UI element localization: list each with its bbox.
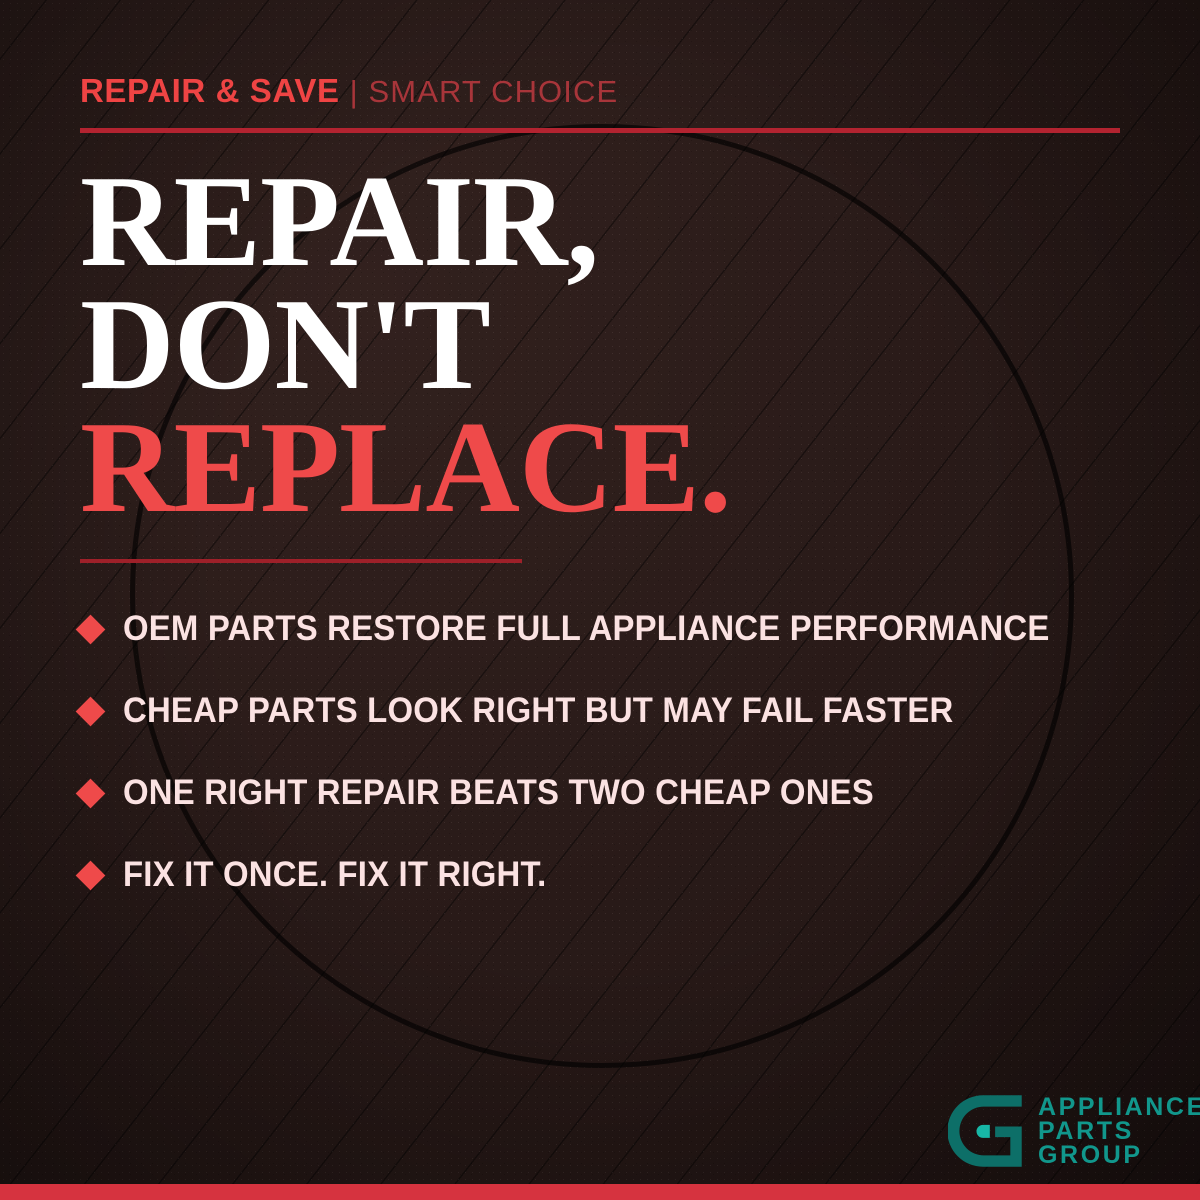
list-item: OEM PARTS RESTORE FULL APPLIANCE PERFORM… [80, 588, 1160, 670]
diamond-bullet-icon [76, 696, 106, 726]
poster-content: REPAIR & SAVE| SMART CHOICE REPAIR, DON'… [0, 0, 1200, 1200]
brand-line-parts: PARTS [1038, 1119, 1200, 1143]
bottom-accent-bar [0, 1184, 1200, 1200]
brand-line-appliance: APPLIANCE [1038, 1095, 1200, 1119]
brand-line-group: GROUP [1038, 1143, 1200, 1167]
eyebrow: REPAIR & SAVE| SMART CHOICE [80, 74, 618, 107]
list-item-label: ONE RIGHT REPAIR BEATS TWO CHEAP ONES [123, 773, 874, 813]
headline-line-2: DON'T [80, 283, 1080, 406]
benefits-list: OEM PARTS RESTORE FULL APPLIANCE PERFORM… [80, 588, 1160, 916]
brand-logo: APPLIANCE PARTS GROUP [948, 1093, 1200, 1169]
top-divider-rule [80, 128, 1120, 133]
eyebrow-strong-text: REPAIR & SAVE [80, 72, 340, 109]
headline-divider-rule [80, 559, 522, 563]
page-title: REPAIR, DON'T REPLACE. [80, 160, 1080, 529]
list-item: CHEAP PARTS LOOK RIGHT BUT MAY FAIL FAST… [80, 670, 1160, 752]
diamond-bullet-icon [76, 860, 106, 890]
headline-line-1: REPAIR, [80, 160, 1080, 283]
list-item: FIX IT ONCE. FIX IT RIGHT. [80, 834, 1160, 916]
g-monogram-icon [948, 1093, 1024, 1169]
poster-canvas: REPAIR & SAVE| SMART CHOICE REPAIR, DON'… [0, 0, 1200, 1200]
diamond-bullet-icon [76, 614, 106, 644]
diamond-bullet-icon [76, 778, 106, 808]
list-item-label: CHEAP PARTS LOOK RIGHT BUT MAY FAIL FAST… [123, 691, 953, 731]
list-item: ONE RIGHT REPAIR BEATS TWO CHEAP ONES [80, 752, 1160, 834]
list-item-label: OEM PARTS RESTORE FULL APPLIANCE PERFORM… [123, 609, 1049, 649]
brand-wordmark: APPLIANCE PARTS GROUP [1038, 1095, 1200, 1167]
headline-line-3: REPLACE. [80, 406, 1080, 529]
list-item-label: FIX IT ONCE. FIX IT RIGHT. [123, 855, 546, 895]
eyebrow-light-text: | SMART CHOICE [350, 74, 619, 109]
